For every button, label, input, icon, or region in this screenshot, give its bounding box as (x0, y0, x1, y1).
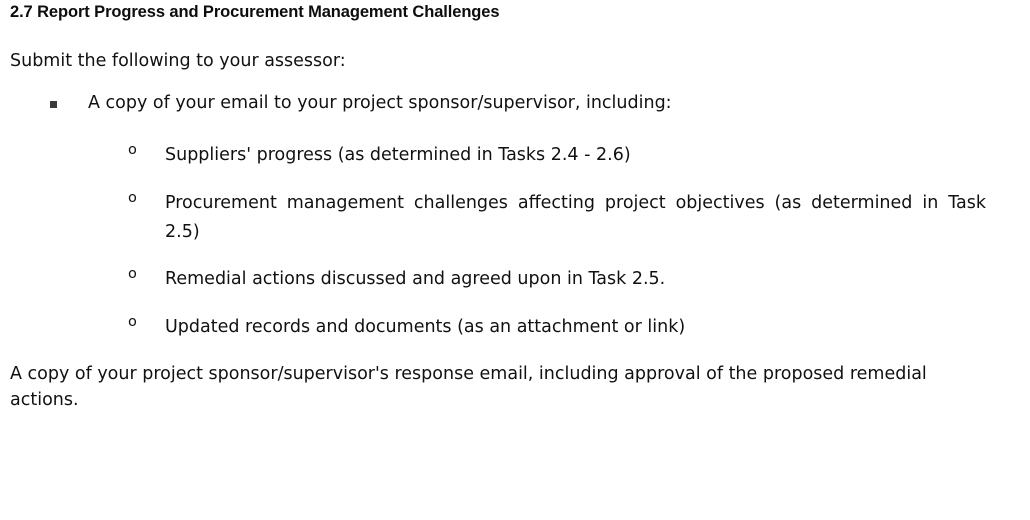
section-heading: 2.7 Report Progress and Procurement Mana… (10, 3, 499, 22)
circle-bullet-icon: o (128, 143, 137, 158)
list-item-label: Suppliers' progress (as determined in Ta… (165, 141, 986, 170)
list-item-label: Updated records and documents (as an att… (165, 313, 986, 342)
circle-bullet-icon: o (128, 315, 137, 330)
list-item: o Updated records and documents (as an a… (128, 313, 986, 342)
document-page: 2.7 Report Progress and Procurement Mana… (0, 0, 1030, 520)
circle-bullet-icon: o (128, 267, 137, 282)
closing-paragraph: A copy of your project sponsor/superviso… (10, 361, 942, 413)
list-item: o Procurement management challenges affe… (128, 189, 986, 247)
list-item-label: Remedial actions discussed and agreed up… (165, 265, 986, 294)
list-item-label: A copy of your email to your project spo… (88, 93, 1000, 113)
list-item: o Suppliers' progress (as determined in … (128, 141, 986, 170)
list-item: A copy of your email to your project spo… (50, 93, 1000, 113)
intro-paragraph: Submit the following to your assessor: (10, 51, 346, 71)
list-item: o Remedial actions discussed and agreed … (128, 265, 986, 294)
square-bullet-icon (50, 101, 57, 108)
circle-bullet-icon: o (128, 191, 137, 206)
list-item-label: Procurement management challenges affect… (165, 189, 986, 247)
